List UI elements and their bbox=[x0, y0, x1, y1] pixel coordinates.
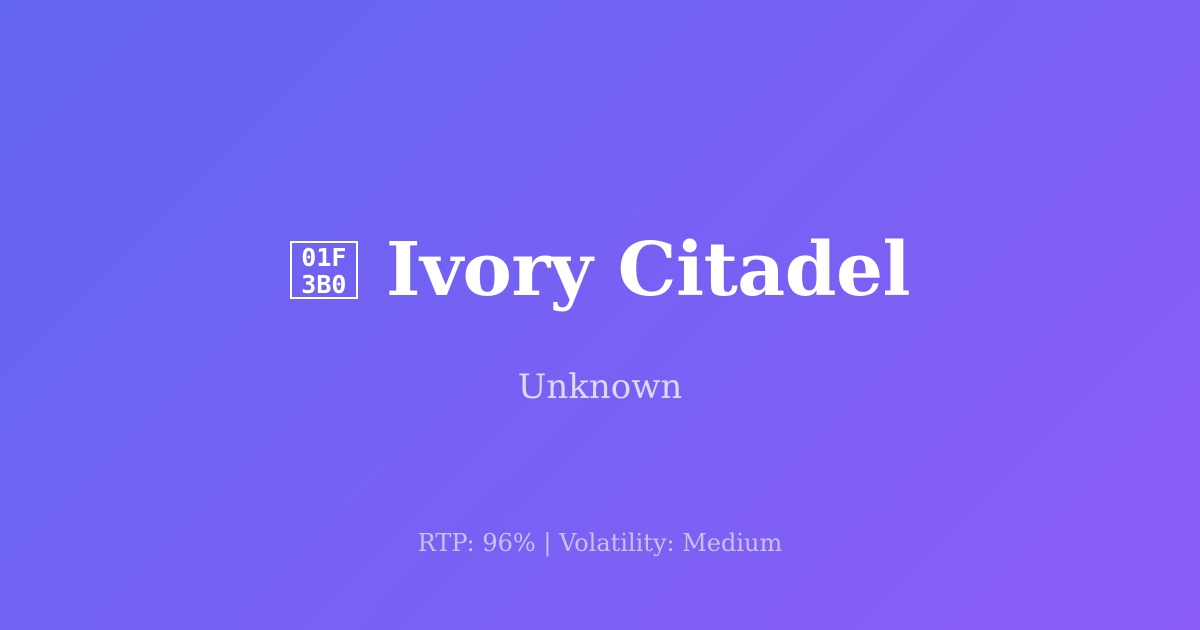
provider-subtitle: Unknown bbox=[0, 366, 1200, 408]
game-stats: RTP: 96% | Volatility: Medium bbox=[0, 528, 1200, 558]
codepoint-bottom: 3B0 bbox=[301, 271, 346, 298]
title-row: 01F 3B0 Ivory Citadel bbox=[0, 228, 1200, 312]
slot-machine-icon: 01F 3B0 bbox=[290, 241, 358, 299]
page-title: Ivory Citadel bbox=[386, 228, 910, 312]
game-preview-card: 01F 3B0 Ivory Citadel Unknown RTP: 96% |… bbox=[0, 0, 1200, 630]
codepoint-top: 01F bbox=[301, 244, 346, 271]
